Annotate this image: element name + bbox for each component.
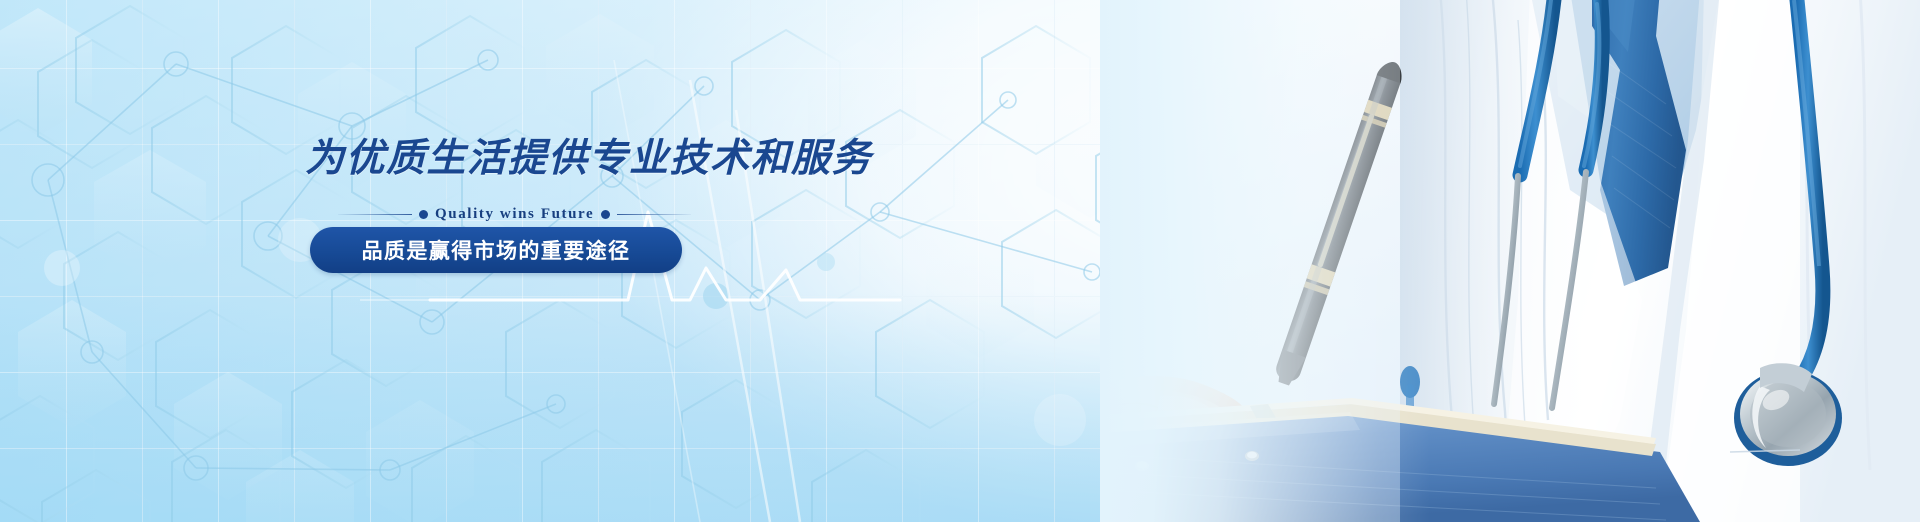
tagline-right-dot-icon [601,210,610,219]
slogan-pill-button[interactable]: 品质是赢得市场的重要途径 [310,227,682,273]
slogan-pill-label: 品质是赢得市场的重要途径 [362,235,631,265]
tagline-left-dot-icon [419,210,428,219]
doctor-photo [1100,0,1920,522]
tagline-left-rule [338,214,412,215]
tagline-row: Quality wins Future [338,203,658,225]
banner-headline: 为优质生活提供专业技术和服务 [305,127,872,183]
photo-left-fade [1100,0,1430,522]
hero-banner: 为优质生活提供专业技术和服务 Quality wins Future 品质是赢得… [0,0,1920,522]
tagline-english: Quality wins Future [435,206,594,223]
tagline-right-rule [617,214,691,215]
